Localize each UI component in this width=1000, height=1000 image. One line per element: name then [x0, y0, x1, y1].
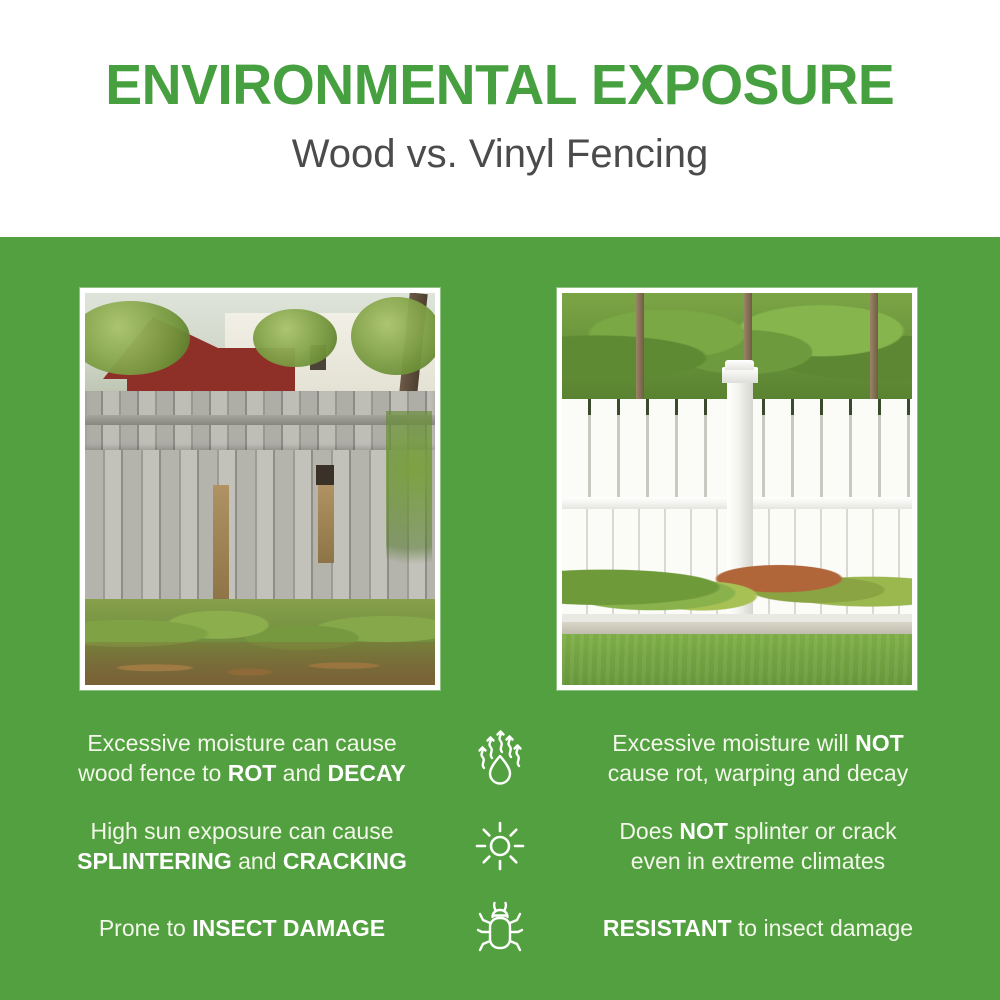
post-cap-base — [722, 367, 758, 383]
missing-board-gap — [318, 485, 334, 563]
vinyl-moisture-not: NOT — [855, 730, 904, 756]
fallen-leaves — [85, 642, 435, 685]
wood-moisture-and: and — [276, 760, 327, 786]
wood-moisture-line1: Excessive moisture can cause — [87, 730, 396, 756]
wood-sun-text: High sun exposure can cause SPLINTERING … — [22, 816, 462, 877]
header: ENVIRONMENTAL EXPOSURE Wood vs. Vinyl Fe… — [0, 0, 1000, 237]
green-content-panel: Excessive moisture can cause wood fence … — [0, 237, 1000, 1000]
vinyl-sun-line1-c: splinter or crack — [728, 818, 897, 844]
vinyl-insect-suffix: to insect damage — [732, 915, 914, 941]
vinyl-moisture-line2: cause rot, warping and decay — [608, 760, 908, 786]
sun-icon-cell — [462, 820, 538, 872]
vinyl-sun-line2: even in extreme climates — [631, 848, 885, 874]
infographic-root: ENVIRONMENTAL EXPOSURE Wood vs. Vinyl Fe… — [0, 0, 1000, 1000]
wood-sun-splintering: SPLINTERING — [77, 848, 232, 874]
climbing-vine — [386, 411, 432, 599]
vinyl-sun-not: NOT — [679, 818, 728, 844]
wood-fence-photo — [85, 293, 435, 685]
vinyl-moisture-line1-a: Excessive moisture will — [612, 730, 855, 756]
wood-insect-damage: INSECT DAMAGE — [192, 915, 385, 941]
comparison-row-moisture: Excessive moisture can cause wood fence … — [0, 715, 1000, 801]
vinyl-moisture-text: Excessive moisture will NOT cause rot, w… — [538, 728, 978, 789]
wood-sun-cracking: CRACKING — [283, 848, 407, 874]
vinyl-insect-resistant: RESISTANT — [603, 915, 732, 941]
wood-sun-line1: High sun exposure can cause — [90, 818, 393, 844]
tree-foliage — [351, 297, 435, 375]
landscaped-shrubs — [562, 540, 912, 626]
wood-insect-prefix: Prone to — [99, 915, 192, 941]
vinyl-sun-line1-a: Does — [619, 818, 679, 844]
vinyl-insect-text: RESISTANT to insect damage — [538, 913, 978, 943]
vinyl-fence-photo — [562, 293, 912, 685]
wood-insect-text: Prone to INSECT DAMAGE — [22, 913, 462, 943]
wood-moisture-decay: DECAY — [327, 760, 405, 786]
moisture-droplet-icon-cell — [462, 728, 538, 788]
post-cap-top — [725, 360, 754, 370]
photo-row — [0, 288, 1000, 690]
moisture-droplet-icon — [472, 728, 528, 788]
vinyl-sun-text: Does NOT splinter or crack even in extre… — [538, 816, 978, 877]
page-subtitle: Wood vs. Vinyl Fencing — [292, 132, 709, 176]
page-title: ENVIRONMENTAL EXPOSURE — [105, 56, 894, 116]
sun-icon — [474, 820, 526, 872]
bug-icon — [474, 900, 526, 956]
green-lawn — [562, 634, 912, 685]
comparison-row-insects: Prone to INSECT DAMAGE — [0, 893, 1000, 963]
fence-hole — [316, 465, 334, 485]
tree-trunk — [636, 293, 644, 411]
comparison-row-sun: High sun exposure can cause SPLINTERING … — [0, 803, 1000, 889]
wood-moisture-text: Excessive moisture can cause wood fence … — [22, 728, 462, 789]
tree-foliage — [253, 309, 337, 368]
wood-sun-and: and — [232, 848, 283, 874]
vinyl-fence-photo-frame — [557, 288, 917, 690]
wood-fence-photo-frame — [80, 288, 440, 690]
comparison-rows: Excessive moisture can cause wood fence … — [0, 715, 1000, 963]
missing-board-gap — [213, 485, 229, 603]
bug-icon-cell — [462, 900, 538, 956]
wood-moisture-rot: ROT — [228, 760, 277, 786]
tree-trunk — [870, 293, 878, 411]
fence-rail-top — [85, 415, 435, 425]
wood-moisture-line2-a: wood fence to — [78, 760, 228, 786]
